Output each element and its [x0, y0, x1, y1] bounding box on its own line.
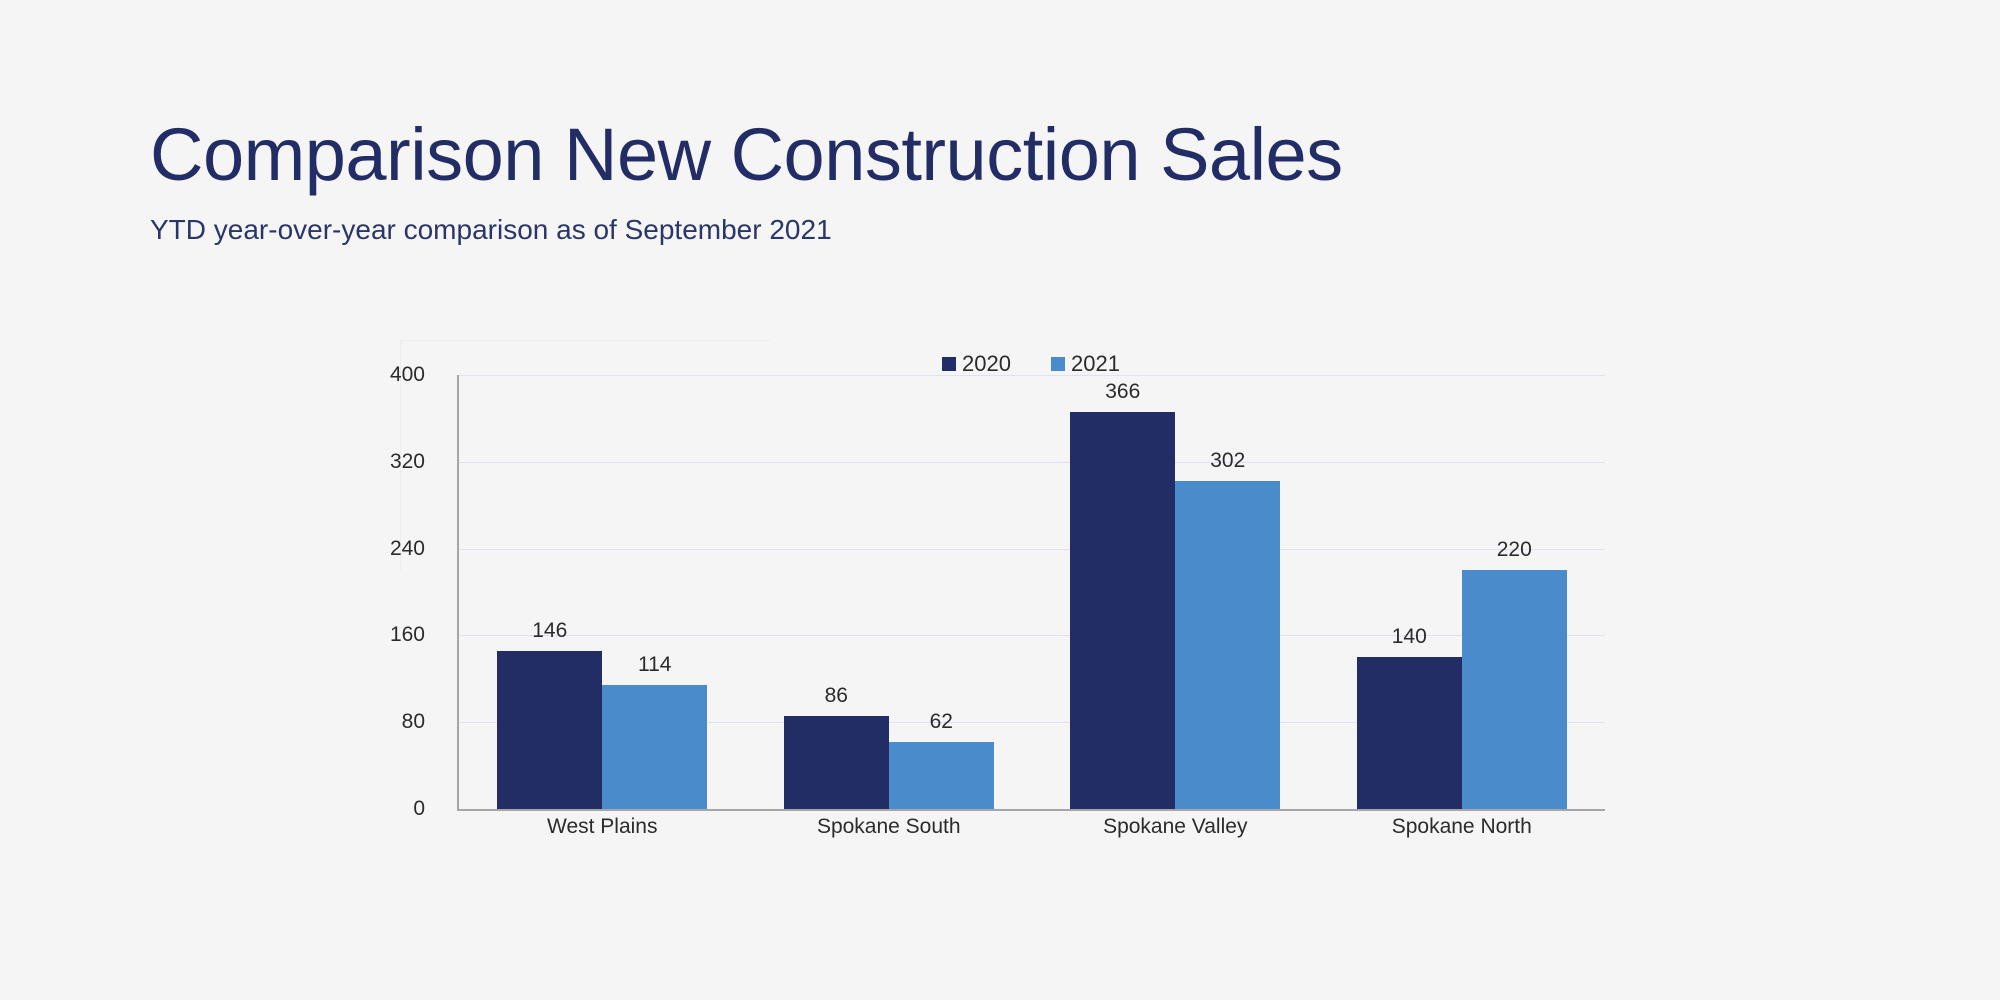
bar-value-label: 140: [1392, 625, 1427, 649]
bar-group: 146114: [459, 375, 746, 809]
legend-label: 2021: [1071, 353, 1120, 375]
bar-slot: 62: [889, 375, 994, 809]
page-title: Comparison New Construction Sales: [150, 118, 1850, 192]
bar-2020[interactable]: [784, 716, 889, 809]
bar-value-label: 86: [825, 684, 848, 708]
x-axis-category-label: Spokane Valley: [1032, 815, 1319, 839]
bar-2020[interactable]: [497, 651, 602, 809]
slide-header: Comparison New Construction Sales YTD ye…: [150, 118, 1850, 246]
chart-plot-area: 20202021 400320240160800 146114866236630…: [457, 375, 1605, 809]
legend-item-2020[interactable]: 2020: [942, 353, 1011, 375]
bar-value-label: 366: [1105, 380, 1140, 404]
y-axis-tick-label: 400: [390, 363, 425, 387]
y-axis-tick-label: 80: [402, 710, 425, 734]
x-axis-line: [457, 809, 1605, 811]
x-axis-category-label: West Plains: [459, 815, 746, 839]
bar-value-label: 220: [1497, 538, 1532, 562]
bar-group: 8662: [746, 375, 1033, 809]
y-axis-tick-label: 320: [390, 450, 425, 474]
bar-2021[interactable]: [889, 742, 994, 809]
chart-container: 20202021 400320240160800 146114866236630…: [400, 340, 1610, 840]
chart-legend: 20202021: [457, 353, 1605, 375]
bar-2020[interactable]: [1070, 412, 1175, 809]
legend-label: 2020: [962, 353, 1011, 375]
y-axis-tick-label: 0: [413, 797, 425, 821]
bar-slot: 302: [1175, 375, 1280, 809]
legend-item-2021[interactable]: 2021: [1051, 353, 1120, 375]
legend-swatch-icon: [1051, 357, 1065, 371]
bar-slot: 146: [497, 375, 602, 809]
page-subtitle: YTD year-over-year comparison as of Sept…: [150, 214, 1850, 246]
x-axis-category-label: Spokane North: [1319, 815, 1606, 839]
bar-value-label: 302: [1210, 449, 1245, 473]
bar-group: 366302: [1032, 375, 1319, 809]
x-axis-category-label: Spokane South: [746, 815, 1033, 839]
x-axis-labels: West PlainsSpokane SouthSpokane ValleySp…: [459, 815, 1605, 839]
bar-value-label: 62: [930, 710, 953, 734]
bar-slot: 86: [784, 375, 889, 809]
y-axis-tick-label: 160: [390, 623, 425, 647]
bar-slot: 220: [1462, 375, 1567, 809]
bar-value-label: 114: [638, 653, 671, 677]
bar-value-label: 146: [532, 619, 567, 643]
bar-2021[interactable]: [1175, 481, 1280, 809]
bar-groups: 1461148662366302140220: [459, 375, 1605, 809]
bar-2020[interactable]: [1357, 657, 1462, 809]
bar-2021[interactable]: [1462, 570, 1567, 809]
y-axis-tick-label: 240: [390, 537, 425, 561]
bar-slot: 140: [1357, 375, 1462, 809]
bar-slot: 366: [1070, 375, 1175, 809]
bar-slot: 114: [602, 375, 707, 809]
legend-swatch-icon: [942, 357, 956, 371]
slide-canvas: Comparison New Construction Sales YTD ye…: [0, 0, 2000, 1000]
bar-group: 140220: [1319, 375, 1606, 809]
bar-2021[interactable]: [602, 685, 707, 809]
